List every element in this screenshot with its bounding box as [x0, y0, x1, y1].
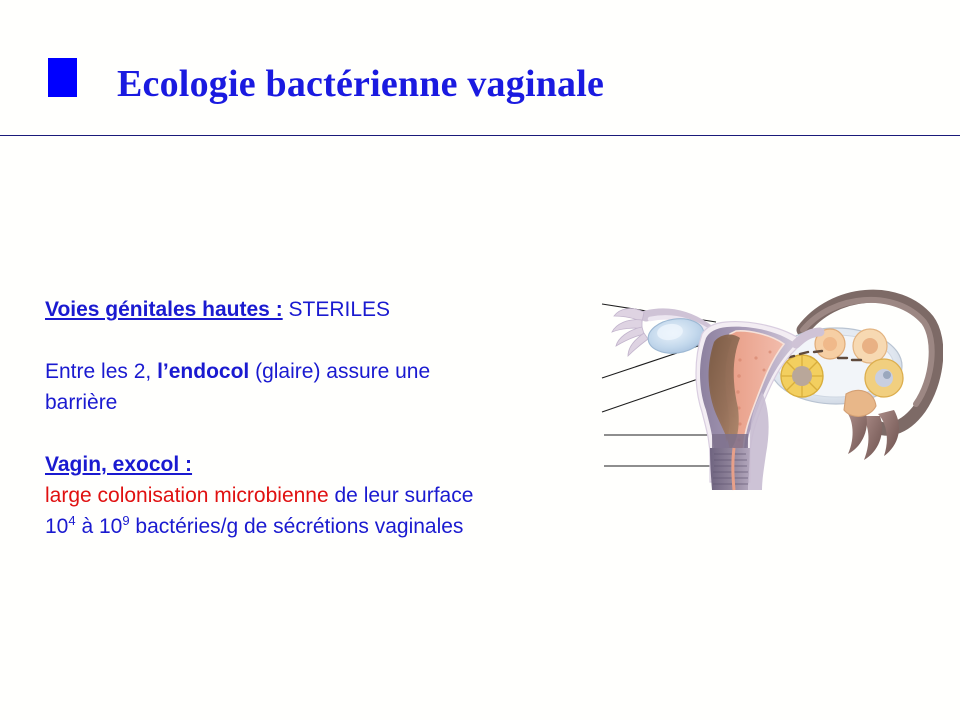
label-voies-genitales-hautes: Voies génitales hautes :: [45, 298, 283, 321]
text-bacteries-par-g: bactéries/g de sécrétions vaginales: [130, 515, 464, 538]
follicle-3-antrum: [875, 369, 893, 387]
text-glaire-assure-une: (glaire) assure une: [249, 360, 430, 383]
text-line: Entre les 2, l’endocol (glaire) assure u…: [45, 360, 430, 383]
uterus: [696, 322, 804, 490]
text-de-leur-surface: de leur surface: [329, 484, 474, 507]
paragraph-vagin-exocol: Vagin, exocol : large colonisation micro…: [45, 449, 605, 542]
title-bullet-square: [48, 58, 77, 97]
paragraph-spacer: [45, 418, 605, 449]
paragraph-spacer: [45, 325, 605, 356]
isthmus: [712, 434, 748, 448]
cervical-canal: [733, 448, 734, 490]
label-vagin-exocol: Vagin, exocol :: [45, 453, 192, 476]
text-a-10: à 10: [76, 515, 123, 538]
value-steriles: STERILES: [283, 298, 390, 321]
exponent-4: 4: [68, 513, 75, 528]
term-endocol: l’endocol: [157, 360, 249, 383]
text-line: Vagin, exocol :: [45, 453, 192, 476]
paragraph-voies-genitales-hautes: Voies génitales hautes : STERILES: [45, 294, 605, 325]
left-fimbriae-group: [612, 309, 648, 356]
page-title: Ecologie bactérienne vaginale: [117, 62, 604, 106]
text-entre-les-2: Entre les 2,: [45, 360, 157, 383]
right-adnexa: [770, 296, 937, 460]
body-text-block: Voies génitales hautes : STERILES Entre …: [45, 294, 605, 542]
exponent-9: 9: [122, 513, 129, 528]
text-10: 10: [45, 515, 68, 538]
anatomy-illustration: [598, 282, 943, 492]
corpus-luteum-core: [792, 366, 812, 386]
right-fimbriae-3: [848, 414, 867, 454]
paragraph-endocol: Entre les 2, l’endocol (glaire) assure u…: [45, 356, 605, 418]
follicle-1-oocyte: [823, 337, 837, 351]
text-line: 104 à 109 bactéries/g de sécrétions vagi…: [45, 515, 463, 538]
text-line: Voies génitales hautes : STERILES: [45, 298, 390, 321]
text-large-colonisation-microbienne: large colonisation microbienne: [45, 484, 329, 507]
slide: Ecologie bactérienne vaginale Voies géni…: [0, 0, 960, 720]
text-line: large colonisation microbienne de leur s…: [45, 484, 473, 507]
follicle-2-oocyte: [862, 338, 878, 354]
follicle-3-oocyte: [883, 371, 891, 379]
text-line: barrière: [45, 391, 117, 414]
anatomy-illustration-svg: [598, 282, 943, 492]
title-divider: [0, 135, 960, 136]
text-barriere: barrière: [45, 391, 117, 414]
